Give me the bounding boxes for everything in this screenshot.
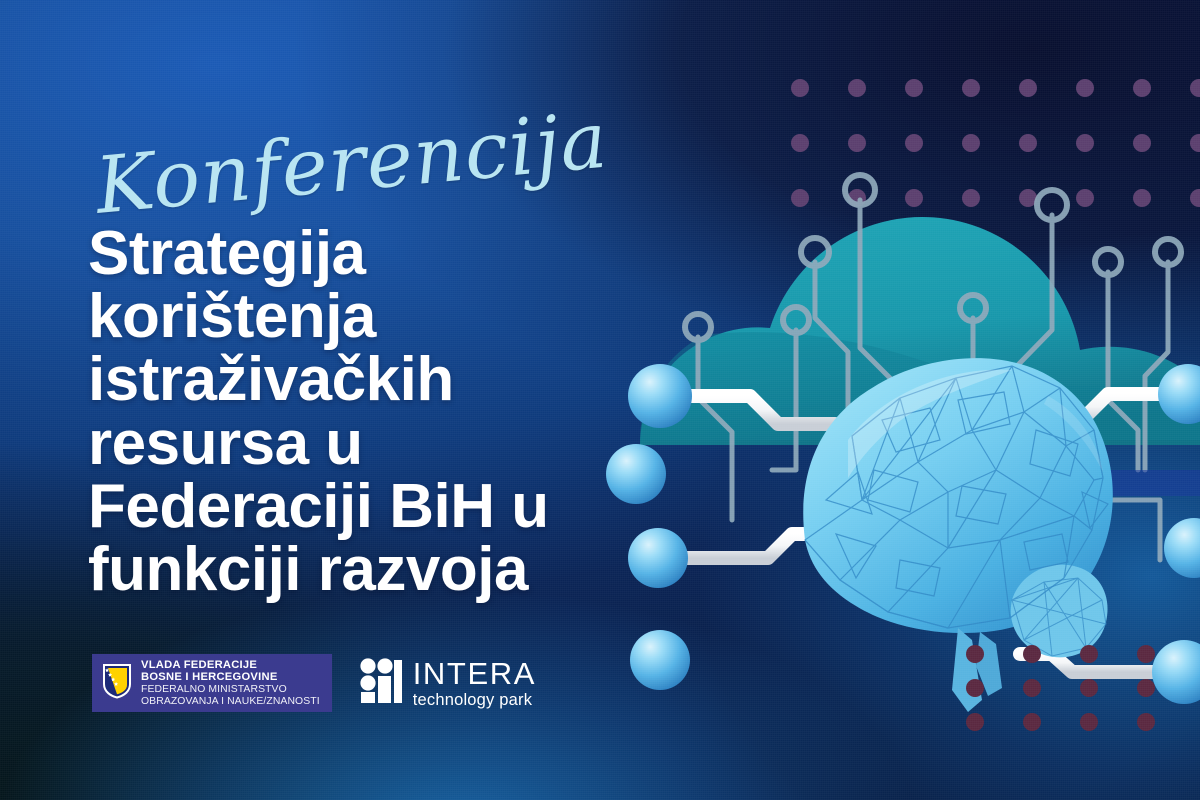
gov-line-1: VLADA FEDERACIJE [141, 659, 320, 672]
gov-line-2: BOSNE I HERCEGOVINE [141, 671, 320, 684]
gov-line-3: FEDERALNO MINISTARSTVO [141, 684, 320, 696]
gov-logo-text: VLADA FEDERACIJE BOSNE I HERCEGOVINE FED… [141, 659, 320, 707]
intera-logo[interactable]: INTERA technology park [360, 658, 536, 709]
bosnia-herzegovina-coat-of-arms-icon [102, 663, 132, 704]
title-line-5: Federaciji BiH u [88, 475, 648, 538]
title-line-2: korištenja [88, 285, 648, 348]
title-line-6: funkciji razvoja [88, 538, 648, 601]
intera-wordmark: INTERA technology park [413, 658, 536, 709]
logo-row: VLADA FEDERACIJE BOSNE I HERCEGOVINE FED… [92, 652, 536, 714]
title-line-4: resursa u [88, 412, 648, 475]
intera-mark-icon [360, 658, 402, 709]
conference-poster: Konferencija Strategija korištenja istra… [0, 0, 1200, 800]
title-line-3: istraživačkih [88, 348, 648, 411]
page-title: Strategija korištenja istraživačkih resu… [88, 222, 648, 601]
gov-line-4: OBRAZOVANJA I NAUKE/ZNANOSTI [141, 696, 320, 708]
title-line-1: Strategija [88, 222, 648, 285]
intera-tagline: technology park [413, 692, 536, 709]
intera-name: INTERA [413, 658, 536, 689]
gov-logo-vlada-federacije-bih[interactable]: VLADA FEDERACIJE BOSNE I HERCEGOVINE FED… [92, 654, 332, 712]
